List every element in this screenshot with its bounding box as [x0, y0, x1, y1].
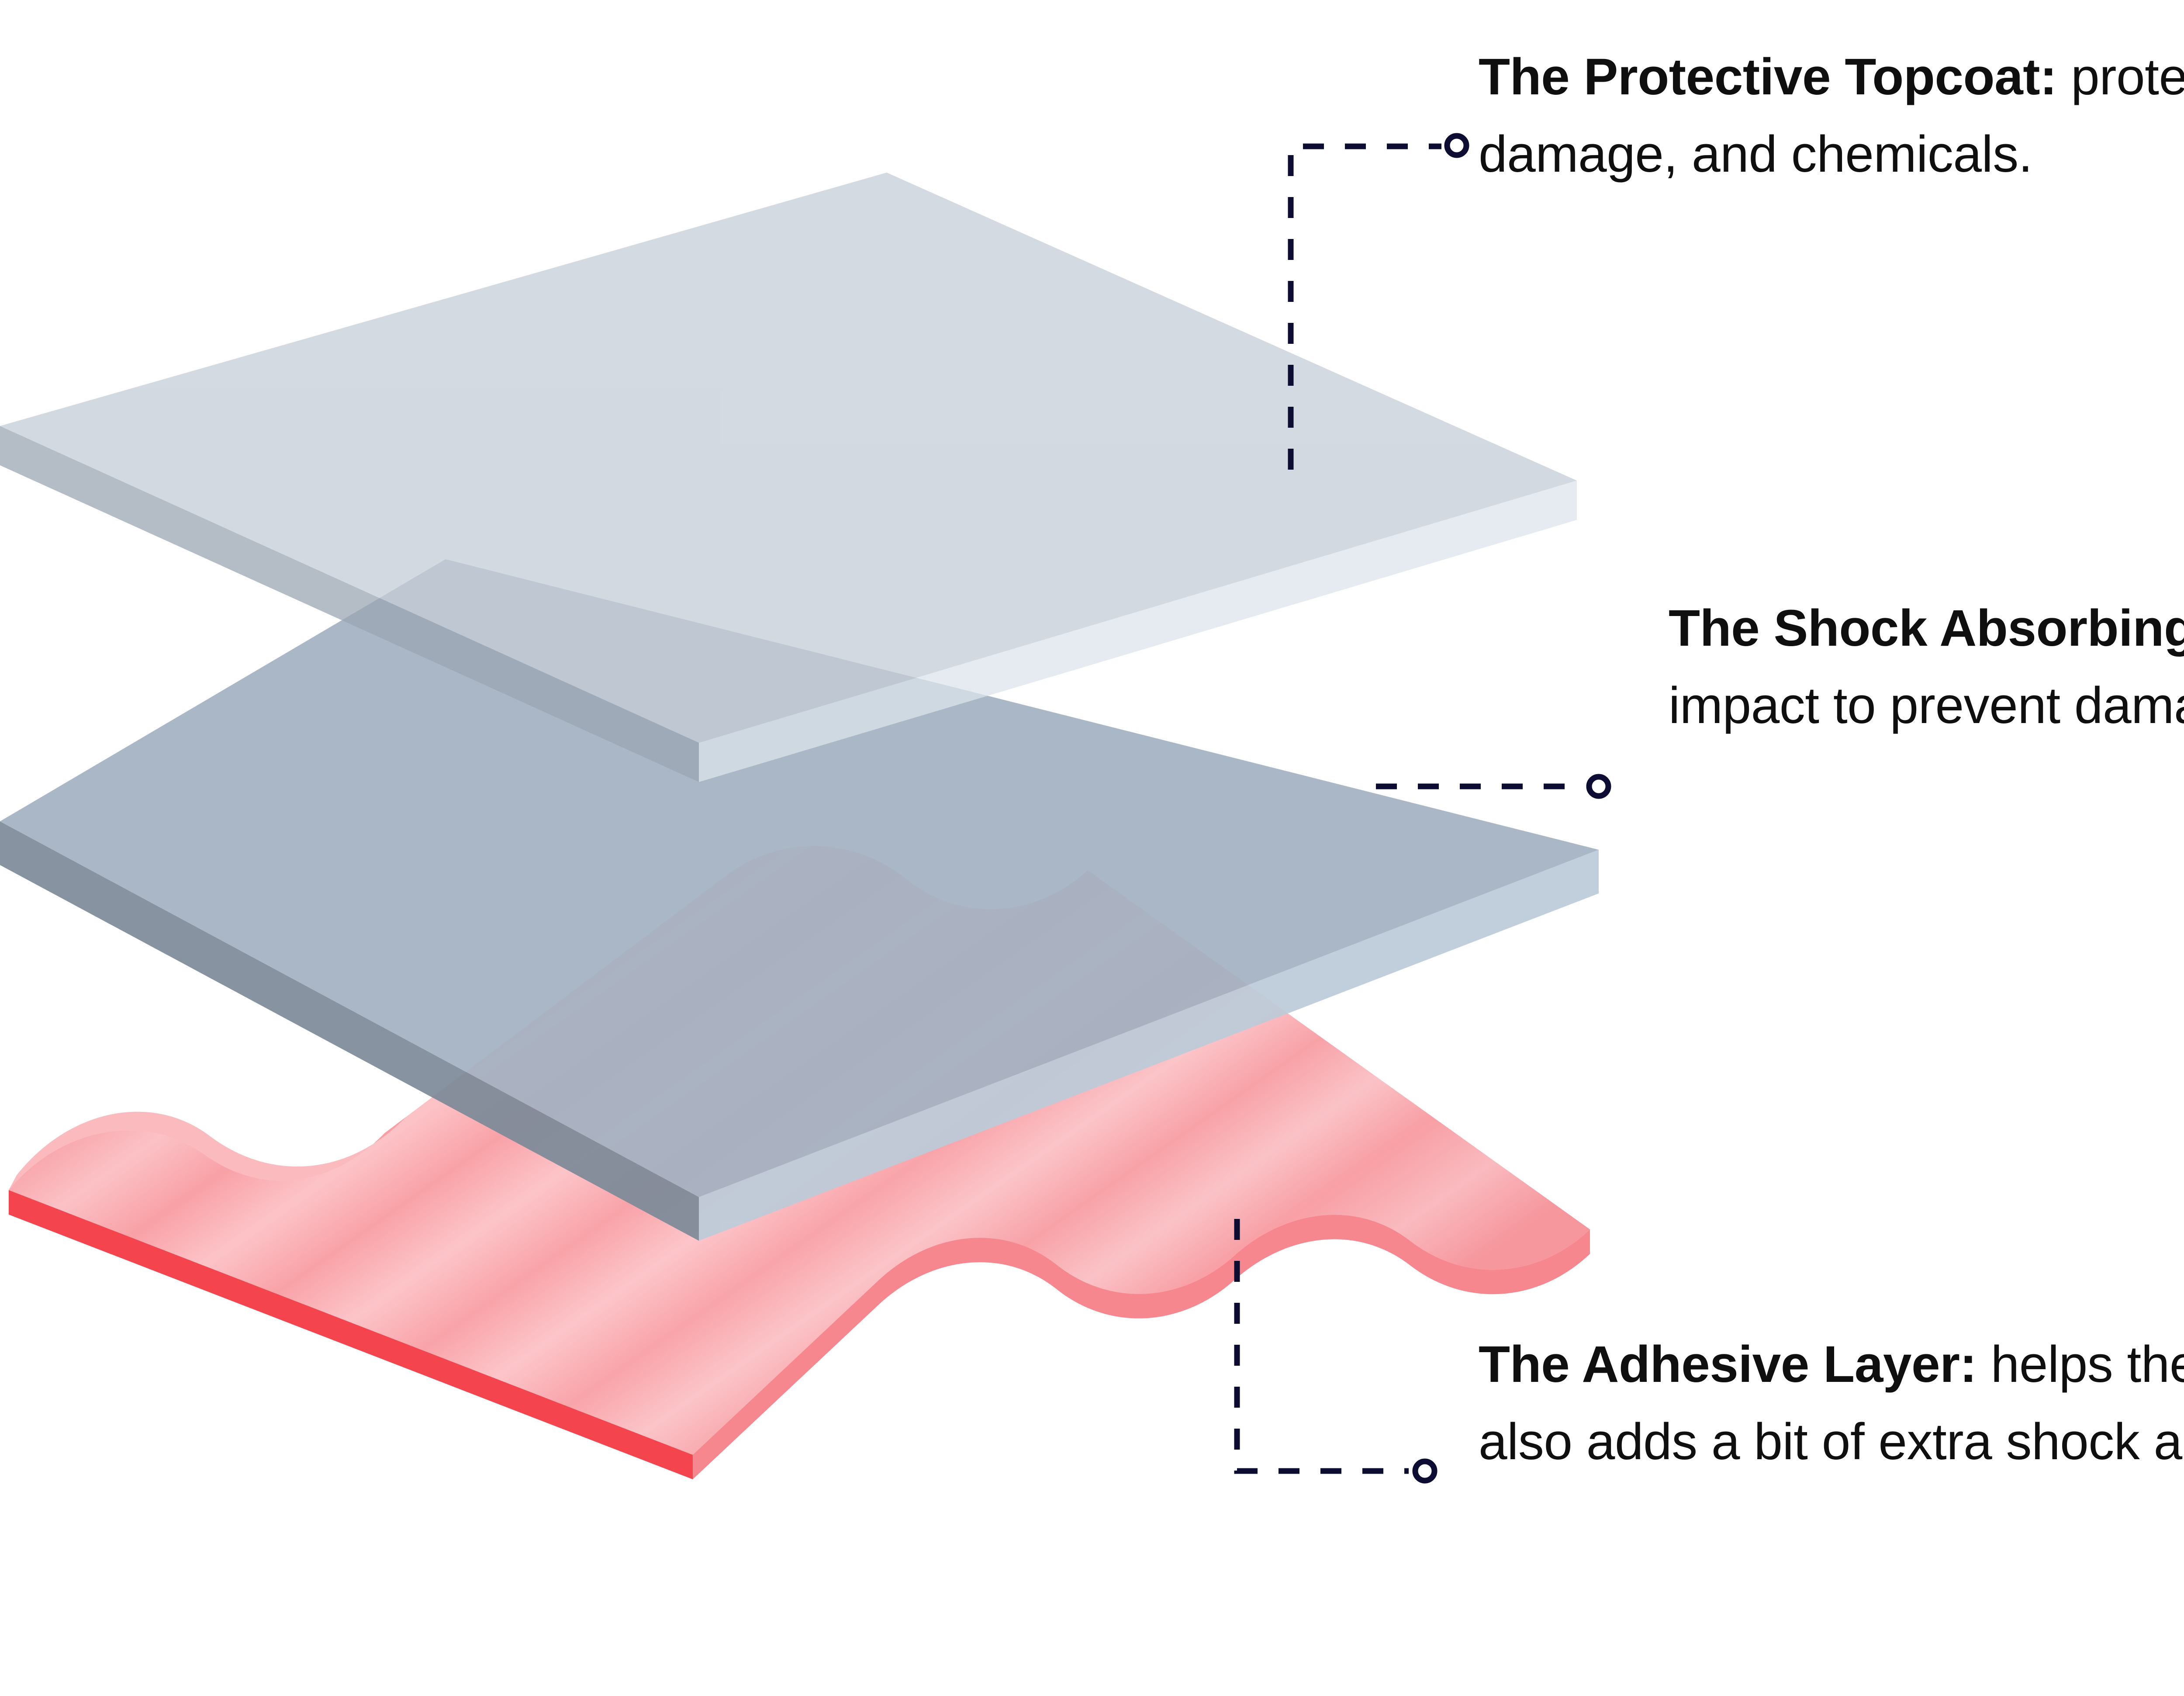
callout-polymer-lead-in: The Shock Absorbing Polymer Layer:: [1669, 599, 2184, 657]
leader-polymer-marker-circle-icon: [1589, 777, 1608, 796]
diagram-canvas: The Protective Topcoat: protects the res…: [0, 0, 2184, 1696]
leader-polymer: [1376, 777, 1608, 796]
leader-adhesive-marker-circle-icon: [1415, 1461, 1434, 1481]
callout-topcoat-paragraph: The Protective Topcoat: protects the res…: [1479, 38, 2184, 193]
callout-adhesive-lead-in: The Adhesive Layer:: [1479, 1336, 1977, 1393]
callout-adhesive: The Adhesive Layer: helps the film stick…: [1479, 1326, 2184, 1481]
topcoat-top-face: [0, 173, 1577, 743]
leader-topcoat-marker-circle-icon: [1447, 136, 1466, 155]
callout-adhesive-paragraph: The Adhesive Layer: helps the film stick…: [1479, 1326, 2184, 1481]
callout-topcoat-lead-in: The Protective Topcoat:: [1479, 48, 2057, 106]
callout-polymer: The Shock Absorbing Polymer Layer: distr…: [1669, 590, 2184, 744]
callout-polymer-paragraph: The Shock Absorbing Polymer Layer: distr…: [1669, 590, 2184, 744]
callout-topcoat: The Protective Topcoat: protects the res…: [1479, 38, 2184, 193]
